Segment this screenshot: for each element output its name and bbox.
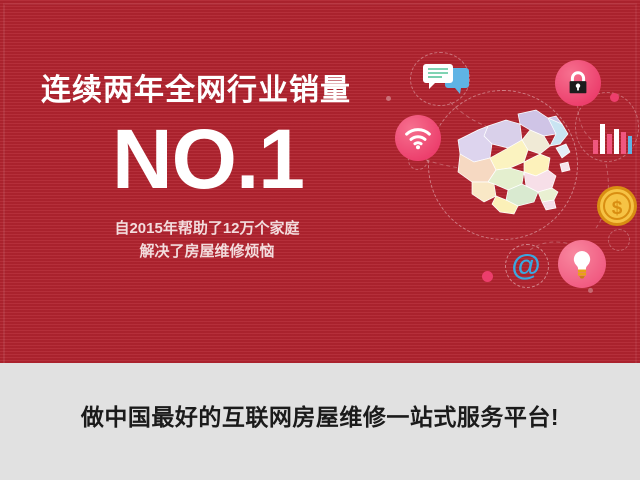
decor-dot-1 — [610, 93, 619, 102]
lightbulb-icon — [558, 240, 606, 288]
subtitle-line-2: 解决了房屋维修烦恼 — [22, 240, 392, 263]
at-sign-icon: @ — [509, 249, 543, 283]
decor-dot-2 — [482, 271, 493, 282]
page-title: 连续两年全网行业销量 — [0, 74, 392, 107]
decor-dot-4 — [588, 288, 593, 293]
china-map — [444, 104, 574, 219]
tagline: 做中国最好的互联网房屋维修一站式服务平台! — [81, 398, 559, 432]
at-sign-glyph: @ — [511, 251, 540, 281]
rank-number: NO.1 — [24, 117, 392, 201]
coin-dollar-icon: $ — [596, 185, 638, 227]
hero-text-block: 连续两年全网行业销量 NO.1 自2015年帮助了12万个家庭 解决了房屋维修烦… — [0, 74, 392, 264]
subtitle-line-1: 自2015年帮助了12万个家庭 — [22, 217, 392, 240]
chat-bubbles-icon — [422, 62, 472, 98]
graphic-cluster: $ @ — [380, 44, 640, 316]
lock-icon — [555, 60, 601, 106]
wifi-icon — [395, 115, 441, 161]
promo-banner: $ @ 连续两年全网行业 — [0, 0, 640, 480]
bottom-bar: 做中国最好的互联网房屋维修一站式服务平台! — [0, 363, 640, 480]
hero-subtitle-block: 自2015年帮助了12万个家庭 解决了房屋维修烦恼 — [22, 217, 392, 264]
coin-dollar-glyph: $ — [612, 198, 623, 219]
bar-chart-icon — [592, 120, 632, 154]
hero-panel: $ @ 连续两年全网行业 — [0, 0, 640, 363]
